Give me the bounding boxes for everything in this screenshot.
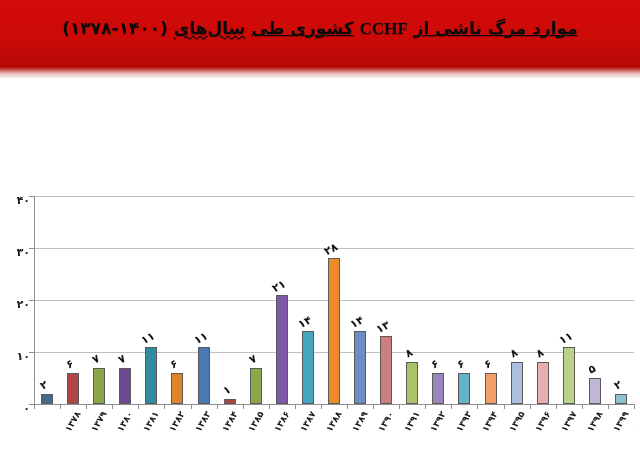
bar-slot[interactable]: ۷	[112, 196, 138, 404]
x-tick	[530, 404, 531, 409]
bar-value-label: ۸	[403, 346, 415, 361]
y-axis-label-text: ۲۰	[17, 298, 30, 311]
bar[interactable]	[145, 347, 157, 404]
bar-slot[interactable]: ۲۸	[321, 196, 347, 404]
y-axis-label-text: ۰	[23, 402, 30, 415]
bar[interactable]	[485, 373, 497, 404]
slide-page: موارد مرگ ناشی از CCHF کشوری طی سال‌های …	[0, 0, 640, 457]
bar-value-label: ۱۳	[374, 319, 392, 337]
x-axis-label: ۱۳۹۳	[455, 410, 475, 434]
bar[interactable]	[119, 368, 131, 404]
bar[interactable]	[589, 378, 601, 404]
x-axis-label: ۱۳۸۶	[273, 410, 293, 434]
bar-value-label: ۶	[64, 357, 76, 372]
bar[interactable]	[563, 347, 575, 404]
x-tick	[217, 404, 218, 409]
x-axis-label: ۱۳۹۱	[403, 410, 423, 434]
bar[interactable]	[537, 362, 549, 404]
bar-slot[interactable]: ۲	[34, 196, 60, 404]
x-tick	[373, 404, 374, 409]
bar-slot[interactable]: ۱	[217, 196, 243, 404]
bar[interactable]	[615, 394, 627, 404]
bar-slot[interactable]: ۱۱	[138, 196, 164, 404]
bar-value-label: ۱۱	[557, 329, 575, 347]
bar-value-label: ۱	[221, 383, 233, 398]
x-axis-label: ۱۳۸۰	[116, 410, 136, 434]
x-axis-label: ۱۳۸۷	[299, 410, 319, 434]
y-axis-label-text: ۴۰	[17, 194, 30, 207]
title-segment-cchf: CCHF	[360, 19, 408, 38]
x-axis-label: ۱۳۹۷	[560, 410, 580, 434]
bar-value-label: ۸	[534, 346, 546, 361]
bar-value-label: ۸	[508, 346, 520, 361]
y-axis-label-text: ۳۰	[17, 246, 30, 259]
title-banner: موارد مرگ ناشی از CCHF کشوری طی سال‌های …	[0, 0, 640, 78]
bar-value-label: ۶	[455, 357, 467, 372]
bar-series: ۲۶۷۷۱۱۶۱۱۱۷۲۱۱۴۲۸۱۴۱۳۸۶۶۶۸۸۱۱۵۲	[34, 196, 634, 404]
x-axis-label: ۱۳۸۲	[168, 410, 188, 434]
x-axis-label: ۱۳۸۸	[325, 410, 345, 434]
title-segment-mid: کشوری طی	[251, 19, 353, 39]
x-tick	[138, 404, 139, 409]
bar[interactable]	[93, 368, 105, 404]
bar-slot[interactable]: ۶	[451, 196, 477, 404]
x-tick	[399, 404, 400, 409]
bar[interactable]	[406, 362, 418, 404]
bar[interactable]	[354, 331, 366, 404]
bar-slot[interactable]: ۷	[86, 196, 112, 404]
bar-value-label: ۶	[429, 357, 441, 372]
x-tick	[86, 404, 87, 409]
bar-value-label: ۷	[247, 352, 259, 367]
x-tick	[347, 404, 348, 409]
x-tick	[477, 404, 478, 409]
chart-container: ۰۱۰۲۰۳۰۴۰ ۲۶۷۷۱۱۶۱۱۱۷۲۱۱۴۲۸۱۴۱۳۸۶۶۶۸۸۱۱۵…	[0, 78, 640, 457]
bar-value-label: ۲	[612, 378, 624, 393]
x-tick	[451, 404, 452, 409]
x-tick	[321, 404, 322, 409]
bar[interactable]	[41, 394, 53, 404]
x-axis-label: ۱۳۹۰	[377, 410, 397, 434]
bar-slot[interactable]: ۱۱	[191, 196, 217, 404]
y-axis-label: ۰	[4, 397, 30, 416]
x-axis-label: ۱۳۸۳	[194, 410, 214, 434]
x-tick	[295, 404, 296, 409]
bar[interactable]	[328, 258, 340, 404]
bar-slot[interactable]: ۶	[60, 196, 86, 404]
bar-value-label: ۲	[38, 378, 50, 393]
y-axis-label: ۴۰	[4, 189, 30, 208]
y-axis-label: ۲۰	[4, 293, 30, 312]
bar-value-label: ۵	[586, 362, 598, 377]
bar-slot[interactable]: ۲۱	[269, 196, 295, 404]
page-title: موارد مرگ ناشی از CCHF کشوری طی سال‌های …	[0, 19, 640, 39]
bar[interactable]	[250, 368, 262, 404]
y-axis-label: ۱۰	[4, 345, 30, 364]
bar-slot[interactable]: ۶	[425, 196, 451, 404]
x-tick	[243, 404, 244, 409]
x-axis-label: ۱۳۹۴	[481, 410, 501, 434]
bar-slot[interactable]: ۱۱	[556, 196, 582, 404]
bar[interactable]	[380, 336, 392, 404]
bar-value-label: ۱۱	[192, 329, 210, 347]
bar[interactable]	[198, 347, 210, 404]
bar-slot[interactable]: ۱۴	[295, 196, 321, 404]
bar-slot[interactable]: ۱۳	[373, 196, 399, 404]
y-axis-label: ۳۰	[4, 241, 30, 260]
x-axis-label: ۱۳۷۹	[90, 410, 110, 434]
bar-slot[interactable]: ۸	[504, 196, 530, 404]
x-axis-label: ۱۳۸۴	[221, 410, 241, 434]
x-tick	[60, 404, 61, 409]
title-segment-year-range: (۱۴۰۰-۱۳۷۸)	[62, 19, 168, 39]
bar[interactable]	[458, 373, 470, 404]
x-axis-label: ۱۳۹۹	[612, 410, 632, 434]
bar-value-label: ۱۴	[348, 314, 366, 332]
x-axis-label: ۱۳۹۶	[534, 410, 554, 434]
bar[interactable]	[224, 399, 236, 404]
x-tick	[191, 404, 192, 409]
bar-slot[interactable]: ۷	[243, 196, 269, 404]
title-segment-right: موارد مرگ ناشی از	[414, 19, 578, 39]
x-tick	[608, 404, 609, 409]
title-segment-years-word: سال‌های	[174, 19, 246, 39]
bar-slot[interactable]: ۸	[530, 196, 556, 404]
x-tick	[582, 404, 583, 409]
x-tick	[164, 404, 165, 409]
x-axis-line	[34, 404, 634, 405]
bar-slot[interactable]: ۶	[164, 196, 190, 404]
bar-value-label: ۲۸	[322, 241, 340, 259]
x-axis-label: ۱۳۹۵	[508, 410, 528, 434]
bar-slot[interactable]: ۵	[582, 196, 608, 404]
x-tick	[504, 404, 505, 409]
bar-slot[interactable]: ۱۴	[347, 196, 373, 404]
bar-value-label: ۱۴	[296, 314, 314, 332]
bar[interactable]	[67, 373, 79, 404]
bar-value-label: ۷	[90, 352, 102, 367]
x-tick	[634, 404, 635, 409]
x-axis-label: ۱۳۸۱	[142, 410, 162, 434]
x-tick	[425, 404, 426, 409]
x-tick	[34, 404, 35, 409]
plot-area: ۰۱۰۲۰۳۰۴۰ ۲۶۷۷۱۱۶۱۱۱۷۲۱۱۴۲۸۱۴۱۳۸۶۶۶۸۸۱۱۵…	[34, 196, 634, 404]
bar-value-label: ۶	[168, 357, 180, 372]
x-tick	[556, 404, 557, 409]
bar[interactable]	[302, 331, 314, 404]
bar[interactable]	[511, 362, 523, 404]
x-axis-label: ۱۳۹۲	[429, 410, 449, 434]
bar-slot[interactable]: ۲	[608, 196, 634, 404]
x-axis-label: ۱۳۸۹	[351, 410, 371, 434]
bar-slot[interactable]: ۸	[399, 196, 425, 404]
x-axis-label: ۱۳۹۸	[586, 410, 606, 434]
bar-value-label: ۱۱	[139, 329, 157, 347]
x-tick	[269, 404, 270, 409]
x-axis-label: ۱۳۸۵	[247, 410, 267, 434]
bar-value-label: ۲۱	[270, 277, 288, 295]
bar-value-label: ۶	[481, 357, 493, 372]
bar[interactable]	[276, 295, 288, 404]
x-tick	[112, 404, 113, 409]
bar-slot[interactable]: ۶	[477, 196, 503, 404]
bar-value-label: ۷	[116, 352, 128, 367]
bar[interactable]	[432, 373, 444, 404]
bar[interactable]	[171, 373, 183, 404]
y-axis-label-text: ۱۰	[17, 350, 30, 363]
x-axis-label: ۱۳۷۸	[64, 410, 84, 434]
